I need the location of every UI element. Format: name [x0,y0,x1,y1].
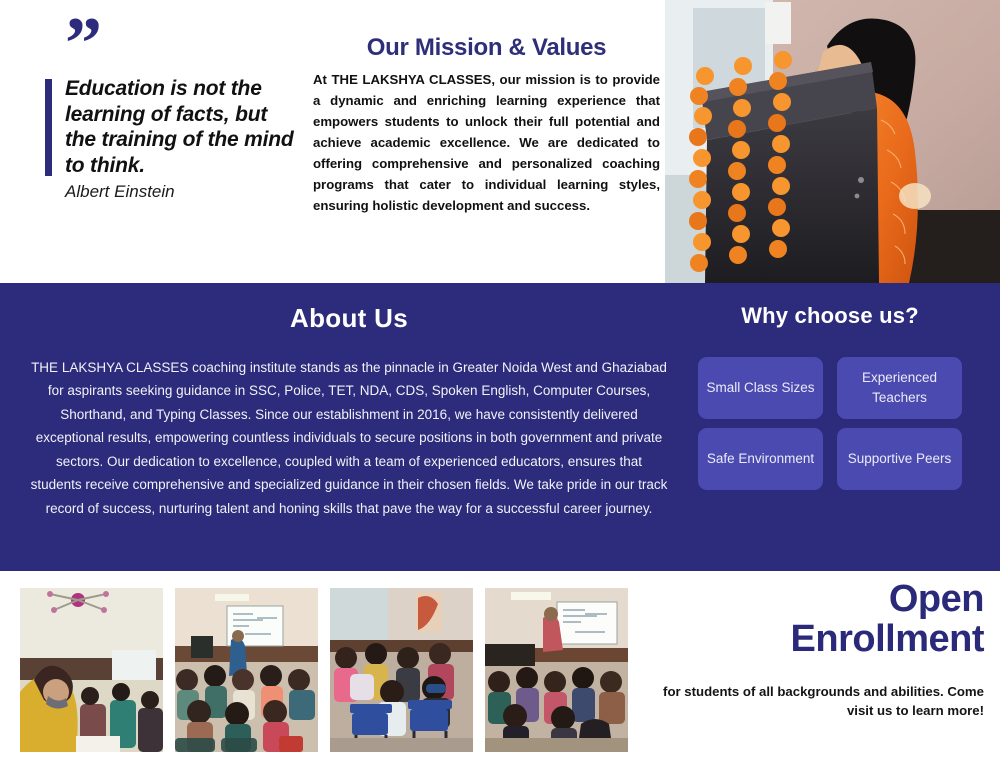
top-section: ” Education is not the learning of facts… [0,0,1000,283]
quote-body: Education is not the learning of facts, … [45,76,295,203]
mission-title: Our Mission & Values [313,34,660,62]
classroom-photo-illustration [485,588,628,752]
gallery-photo-1 [20,588,163,752]
quotation-mark-icon: ” [45,22,295,70]
mission-text: At THE LAKSHYA CLASSES, our mission is t… [313,70,660,217]
classroom-photo-illustration [330,588,473,752]
classroom-photo-illustration [20,588,163,752]
enrollment-title-line2: Enrollment [660,619,984,659]
gallery-photo-strip [20,588,628,752]
about-title: About Us [30,303,668,334]
why-choose-us-block: Why choose us? Small Class Sizes Experie… [680,303,980,490]
why-card-supportive-peers[interactable]: Supportive Peers [837,428,962,490]
why-choose-us-grid: Small Class Sizes Experienced Teachers S… [680,357,980,490]
quote-text: Education is not the learning of facts, … [65,76,295,178]
blue-band-section: About Us THE LAKSHYA CLASSES coaching in… [0,283,1000,571]
quote-author: Albert Einstein [65,182,295,202]
hero-photo-illustration [665,0,1000,283]
quote-block: ” Education is not the learning of facts… [45,22,295,203]
why-card-experienced-teachers[interactable]: Experienced Teachers [837,357,962,419]
quote-accent-bar [45,79,52,176]
why-card-small-class-sizes[interactable]: Small Class Sizes [698,357,823,419]
gallery-photo-2 [175,588,318,752]
why-choose-us-title: Why choose us? [680,303,980,329]
gallery-photo-4 [485,588,628,752]
enrollment-title-line1: Open [660,579,984,619]
bottom-section: Open Enrollment for students of all back… [0,571,1000,773]
enrollment-block: Open Enrollment for students of all back… [660,579,990,720]
about-block: About Us THE LAKSHYA CLASSES coaching in… [30,303,668,520]
hero-photo [665,0,1000,283]
gallery-photo-3 [330,588,473,752]
brochure-page: ” Education is not the learning of facts… [0,0,1000,773]
classroom-photo-illustration [175,588,318,752]
about-text: THE LAKSHYA CLASSES coaching institute s… [30,356,668,520]
enrollment-title: Open Enrollment [660,579,984,660]
mission-block: Our Mission & Values At THE LAKSHYA CLAS… [313,34,660,217]
why-card-safe-environment[interactable]: Safe Environment [698,428,823,490]
enrollment-subtitle: for students of all backgrounds and abil… [660,682,984,720]
